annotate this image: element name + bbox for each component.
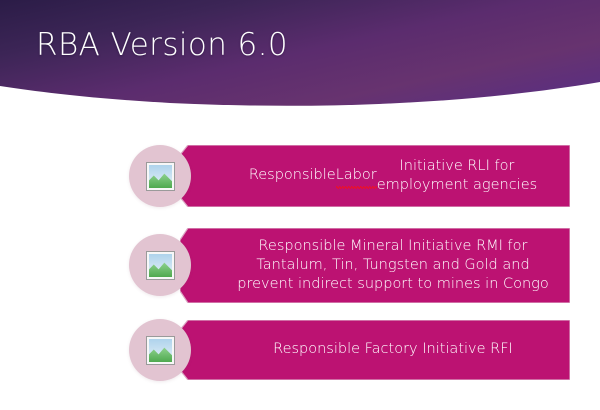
list-item-label: Responsible Factory Initiative RFI <box>216 320 570 380</box>
slide-canvas: RBA Version 6.0 <box>0 0 600 410</box>
placeholder-image-icon <box>147 163 174 190</box>
row-bullet-circle[interactable] <box>129 319 191 381</box>
misspelled-word: Labor <box>336 166 377 185</box>
placeholder-image-icon <box>147 252 174 279</box>
text-segment-before: Responsible <box>249 166 336 185</box>
list-item-label: Responsible Labor Initiative RLI for emp… <box>216 145 570 207</box>
list-item[interactable]: Responsible Factory Initiative RFI <box>0 320 600 380</box>
content-list: Responsible Labor Initiative RLI for emp… <box>0 0 600 410</box>
list-item[interactable]: Responsible Labor Initiative RLI for emp… <box>0 145 600 207</box>
row-bullet-circle[interactable] <box>129 234 191 296</box>
list-item[interactable]: Responsible Mineral Initiative RMI for T… <box>0 228 600 303</box>
list-item-label: Responsible Mineral Initiative RMI for T… <box>216 228 570 303</box>
placeholder-image-icon <box>147 337 174 364</box>
row-bullet-circle[interactable] <box>129 145 191 207</box>
text-segment-after: Initiative RLI for employment agencies <box>377 157 537 195</box>
